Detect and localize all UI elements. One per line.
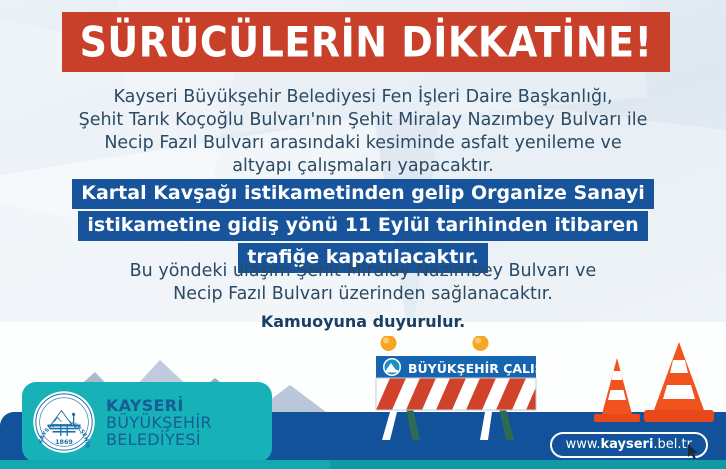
paragraph-one: Kayseri Büyükşehir Belediyesi Fen İşleri… [0, 86, 726, 178]
logo-line-kayseri: KAYSERİ [106, 397, 212, 414]
municipality-logo-text: KAYSERİ BÜYÜKŞEHİR BELEDİYESİ [106, 397, 212, 448]
paragraph-two-line-2: Necip Fazıl Bulvarı üzerinden sağlanacak… [0, 283, 726, 306]
traffic-cones-icon [592, 336, 720, 426]
municipality-logo-panel: KAYSERİ BÜYÜKŞEHİR BELEDİYESİ 1869 KAYSE… [22, 382, 272, 462]
seal-year: 1869 [55, 438, 73, 446]
website-prefix: www. [566, 437, 601, 452]
logo-line-buyuksehir: BÜYÜKŞEHİR [106, 414, 212, 431]
highlight-line-2: istikametine gidiş yönü 11 Eylül tarihin… [78, 211, 647, 241]
municipality-seal-icon: KAYSERİ BÜYÜKŞEHİR BELEDİYESİ 1869 [32, 390, 96, 454]
website-suffix: .bel.tr [653, 437, 692, 452]
banner-title: SÜRÜCÜLERİN DİKKATİNE! [80, 21, 653, 63]
highlight-line-1: Kartal Kavşağı istikametinden gelip Orga… [72, 179, 653, 209]
website-brand: kayseri [601, 437, 654, 452]
footer-strip-right [330, 460, 726, 469]
announcement-poster: SÜRÜCÜLERİN DİKKATİNE! Kayseri Büyükşehi… [0, 0, 726, 469]
road-barrier-icon: BÜYÜKŞEHİR ÇALIŞIYOR [368, 336, 550, 456]
paragraph-two: Bu yöndeki ulaşım Şehit Miralay Nazımbey… [0, 260, 726, 306]
paragraph-one-line-4: altyapı çalışmaları yapacaktır. [0, 155, 726, 178]
website-badge[interactable]: www.kayseri.bel.tr [550, 432, 708, 458]
barrier-sign-text: BÜYÜKŞEHİR ÇALIŞIYOR [408, 361, 550, 376]
paragraph-one-line-2: Şehit Tarık Koçoğlu Bulvarı'nın Şehit Mi… [0, 109, 726, 132]
paragraph-one-line-1: Kayseri Büyükşehir Belediyesi Fen İşleri… [0, 86, 726, 109]
logo-line-belediyesi: BELEDİYESİ [106, 431, 212, 448]
paragraph-one-line-3: Necip Fazıl Bulvarı arasındaki kesiminde… [0, 132, 726, 155]
paragraph-two-line-1: Bu yöndeki ulaşım Şehit Miralay Nazımbey… [0, 260, 726, 283]
header-banner: SÜRÜCÜLERİN DİKKATİNE! [62, 12, 670, 72]
cursor-arrow-icon [688, 444, 700, 460]
closing-statement: Kamuoyuna duyurulur. [0, 312, 726, 331]
